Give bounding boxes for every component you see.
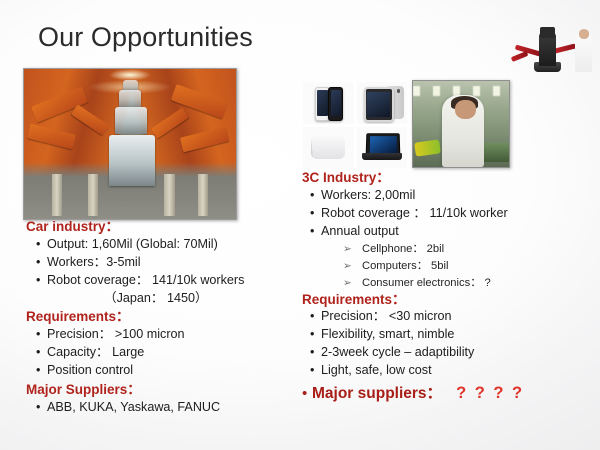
wireframe-object [311,136,345,159]
list-item-label: Robot coverage： 141/10k workers [47,272,244,290]
sub-list-item-label: Computers： 5bil [362,258,448,275]
list-item-label: Precision： >100 micron [47,326,185,344]
arrow-bullet-icon: ➢ [343,241,362,258]
car-suppliers-heading: Major Suppliers： [26,382,294,399]
list-item-label: Workers: 2,00mil [321,187,415,205]
robot-arm [27,124,76,150]
dual-arm-robot-image [508,22,594,74]
list-item: • Capacity： Large [26,344,294,362]
3c-major-suppliers-value: ? ? ? ? [442,383,524,404]
factory-post [198,174,209,216]
bullet-icon: • [310,362,321,380]
list-item: • Precision： <30 micron [302,308,594,326]
car-industry-block: Car industry： • Output: 1,60Mil (Global:… [26,219,294,417]
japan-note: （Japan： 1450） [26,290,294,308]
bullet-icon: • [36,399,47,417]
robot-head [540,27,555,37]
car-body [115,107,147,134]
list-item-label: Workers：3-5mil [47,254,141,272]
car-industry-heading: Car industry： [26,219,294,236]
laptop-base [362,153,402,160]
factory-worker-image [412,80,510,168]
car-body [109,135,156,186]
robot-left-arm-lower [511,51,529,62]
bullet-icon: • [302,383,312,404]
sub-list-item: ➢ Consumer electronics： ? [302,275,594,292]
component-tray [414,140,441,157]
list-item-label: Robot coverage ： 11/10k worker [321,205,508,223]
bullet-icon: • [36,326,47,344]
3c-requirements-heading: Requirements： [302,292,594,309]
bullet-icon: • [310,326,321,344]
list-item: • Light, safe, low cost [302,362,594,380]
list-item: • Workers: 2,00mil [302,187,594,205]
bullet-icon: • [310,205,321,223]
bullet-icon: • [36,236,47,254]
page-title: Our Opportunities [38,23,253,53]
factory-post [88,174,99,216]
laptop-cell [357,127,408,169]
car-requirements-heading: Requirements： [26,309,294,326]
3c-industry-block: 3C Industry： • Workers: 2,00mil • Robot … [302,170,594,404]
list-item-label: Precision： <30 micron [321,308,452,326]
bullet-icon: • [310,308,321,326]
list-item-label: Output: 1,60Mil (Global: 70Mil) [47,236,218,254]
list-item: • Output: 1,60Mil (Global: 70Mil) [26,236,294,254]
tablet-front [364,87,394,122]
3c-major-suppliers-row: • Major suppliers： ? ? ? ? [302,383,594,404]
slide-canvas: Our Opportunities [0,0,600,450]
robot-arm [151,107,189,138]
robot-right-arm [554,43,577,53]
list-item: • Robot coverage ： 11/10k worker [302,205,594,223]
arrow-bullet-icon: ➢ [343,258,362,275]
list-item-label: Flexibility, smart, nimble [321,326,454,344]
bullet-icon: • [36,254,47,272]
bullet-icon: • [36,362,47,380]
car-factory-scene [24,69,236,219]
bullet-icon: • [36,344,47,362]
list-item-label: Light, safe, low cost [321,362,432,380]
list-item: • Workers：3-5mil [26,254,294,272]
3c-industry-heading: 3C Industry： [302,170,594,187]
list-item: • Precision： >100 micron [26,326,294,344]
consumer-devices-image [303,82,407,168]
sub-list-item: ➢ Computers： 5bil [302,258,594,275]
list-item: • Robot coverage： 141/10k workers [26,272,294,290]
worker-face [455,100,476,119]
wireframe-object-cell [303,127,354,169]
sub-list-item-label: Cellphone： 2bil [362,241,444,258]
list-item: • ABB, KUKA, Yaskawa, FANUC [26,399,294,417]
sub-list-item: ➢ Cellphone： 2bil [302,241,594,258]
list-item-label: Annual output [321,223,399,241]
arrow-bullet-icon: ➢ [343,275,362,292]
worker-scene [413,81,509,167]
factory-post [164,174,175,216]
list-item-label: 2-3week cycle – adaptibility [321,344,474,362]
operator-head [579,29,589,38]
robot-torso [539,33,556,65]
list-item: • 2-3week cycle – adaptibility [302,344,594,362]
sub-list-item-label: Consumer electronics： ? [362,275,491,292]
robot-arm [71,104,109,135]
robot-arm [180,127,229,153]
factory-post [52,174,63,216]
car-body [119,90,140,108]
bullet-icon: • [310,344,321,362]
black-phone [328,87,343,121]
list-item: • Annual output [302,223,594,241]
phones-cell [303,82,354,124]
list-item: • Flexibility, smart, nimble [302,326,594,344]
tablet-cell [357,82,408,124]
bullet-icon: • [310,187,321,205]
list-item-label: Position control [47,362,133,380]
car-factory-image [23,68,237,220]
bullet-icon: • [36,272,47,290]
list-item: • Position control [26,362,294,380]
bullet-icon: • [310,223,321,241]
operator-body [575,33,592,71]
list-item-label: Capacity： Large [47,344,144,362]
3c-major-suppliers-label: Major suppliers： [312,384,442,404]
list-item-label: ABB, KUKA, Yaskawa, FANUC [47,399,220,417]
